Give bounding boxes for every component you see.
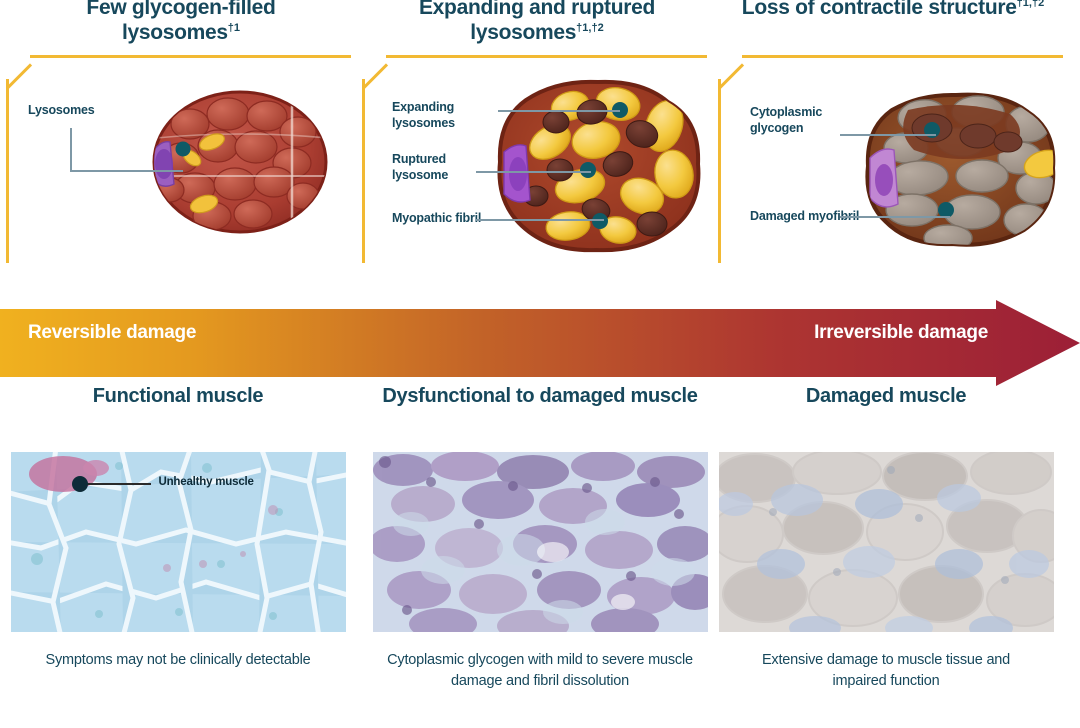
bottom-column-1-title: Functional muscle — [8, 384, 348, 440]
bottom-column-2-caption: Cytoplasmic glycogen with mild to severe… — [370, 650, 710, 692]
progression-arrow: Reversible damage Irreversible damage — [0, 300, 1080, 386]
top-heading-3-superscript: †1,†2 — [1017, 0, 1045, 9]
histology-image-damaged — [719, 452, 1054, 632]
bottom-column-1: Functional muscle — [8, 384, 348, 671]
bottom-column-1-caption: Symptoms may not be clinically detectabl… — [8, 650, 348, 671]
top-heading-2: Expanding and ruptured lysosomes†1,†2 — [382, 0, 692, 46]
fibre-illustration-2 — [492, 78, 707, 253]
bottom-column-2-caption-text: Cytoplasmic glycogen with mild to severe… — [387, 652, 693, 689]
histology-callout-unhealthy-muscle-text: Unhealthy muscle — [159, 476, 254, 488]
bottom-column-2: Dysfunctional to damaged muscle — [370, 384, 710, 692]
histology-svg-damaged — [719, 452, 1054, 632]
callout-ruptured-lysosome: Ruptured lysosome — [392, 152, 496, 183]
bottom-column-2-title: Dysfunctional to damaged muscle — [370, 384, 710, 440]
bottom-column-3-caption-text: Extensive damage to muscle tissue and im… — [762, 652, 1010, 689]
leader-line-ruptured-lysosome — [476, 171, 591, 173]
marker-dot-myopathic-fibril — [592, 213, 608, 229]
leader-line-damaged-myofibril — [840, 216, 950, 218]
arrow-label-reversible: Reversible damage — [28, 322, 196, 344]
bottom-column-3-caption: Extensive damage to muscle tissue and im… — [716, 650, 1056, 692]
leader-line-cytoplasmic-glycogen — [840, 134, 936, 136]
callout-cytoplasmic-glycogen: Cytoplasmic glycogen — [750, 105, 862, 136]
marker-dot-lysosomes — [176, 142, 191, 157]
fibre-illustration-3 — [860, 92, 1060, 247]
histology-svg-dysfunctional — [373, 452, 708, 632]
histology-callout-unhealthy-muscle: Unhealthy muscle — [159, 476, 254, 488]
callout-lysosomes-label: Lysosomes — [28, 103, 95, 117]
leader-line-lysosomes-horizontal — [70, 170, 183, 172]
callout-lysosomes: Lysosomes — [28, 103, 138, 119]
top-heading-1-text: Few glycogen-filled lysosomes — [86, 0, 275, 44]
bottom-column-2-title-text: Dysfunctional to damaged muscle — [382, 385, 697, 407]
arrow-label-irreversible: Irreversible damage — [814, 322, 988, 344]
marker-dot-ruptured-lysosome — [580, 162, 596, 178]
fibre-cross-section-damaged — [860, 92, 1060, 247]
arrow-label-reversible-text: Reversible damage — [28, 322, 196, 343]
fibre-cross-section-expanding — [492, 78, 707, 253]
bottom-column-1-title-text: Functional muscle — [93, 385, 264, 407]
arrow-label-irreversible-text: Irreversible damage — [814, 322, 988, 343]
diagram-canvas: Few glycogen-filled lysosomes†1 Expandin… — [0, 0, 1080, 728]
leader-line-myopathic-fibril — [476, 219, 604, 221]
callout-expanding-lysosomes: Expanding lysosomes — [392, 100, 496, 131]
bottom-column-3-title: Damaged muscle — [716, 384, 1056, 440]
leader-line-expanding-lysosomes — [498, 110, 620, 112]
fibre-cross-section-healthy — [140, 80, 330, 245]
top-heading-3: Loss of contractile structure†1,†2 — [738, 0, 1048, 21]
histology-image-functional: Unhealthy muscle — [11, 452, 346, 632]
callout-myopathic-fibril-label: Myopathic fibril — [392, 211, 481, 225]
top-heading-1: Few glycogen-filled lysosomes†1 — [26, 0, 336, 46]
fibre-illustration-1 — [140, 80, 330, 245]
leader-line-lysosomes-vertical — [70, 128, 72, 171]
bottom-column-3-title-text: Damaged muscle — [806, 385, 966, 407]
top-heading-1-superscript: †1 — [228, 22, 240, 34]
top-heading-2-superscript: †1,†2 — [576, 22, 604, 34]
histology-image-dysfunctional — [373, 452, 708, 632]
bottom-column-3: Damaged muscle — [716, 384, 1056, 692]
bottom-column-1-caption-text: Symptoms may not be clinically detectabl… — [45, 652, 310, 668]
callout-expanding-lysosomes-label: Expanding lysosomes — [392, 100, 455, 130]
callout-cytoplasmic-glycogen-label: Cytoplasmic glycogen — [750, 105, 822, 135]
marker-dot-cytoplasmic-glycogen — [924, 122, 940, 138]
top-heading-3-text: Loss of contractile structure — [742, 0, 1017, 19]
top-heading-2-text: Expanding and ruptured lysosomes — [419, 0, 655, 44]
callout-ruptured-lysosome-label: Ruptured lysosome — [392, 152, 448, 182]
